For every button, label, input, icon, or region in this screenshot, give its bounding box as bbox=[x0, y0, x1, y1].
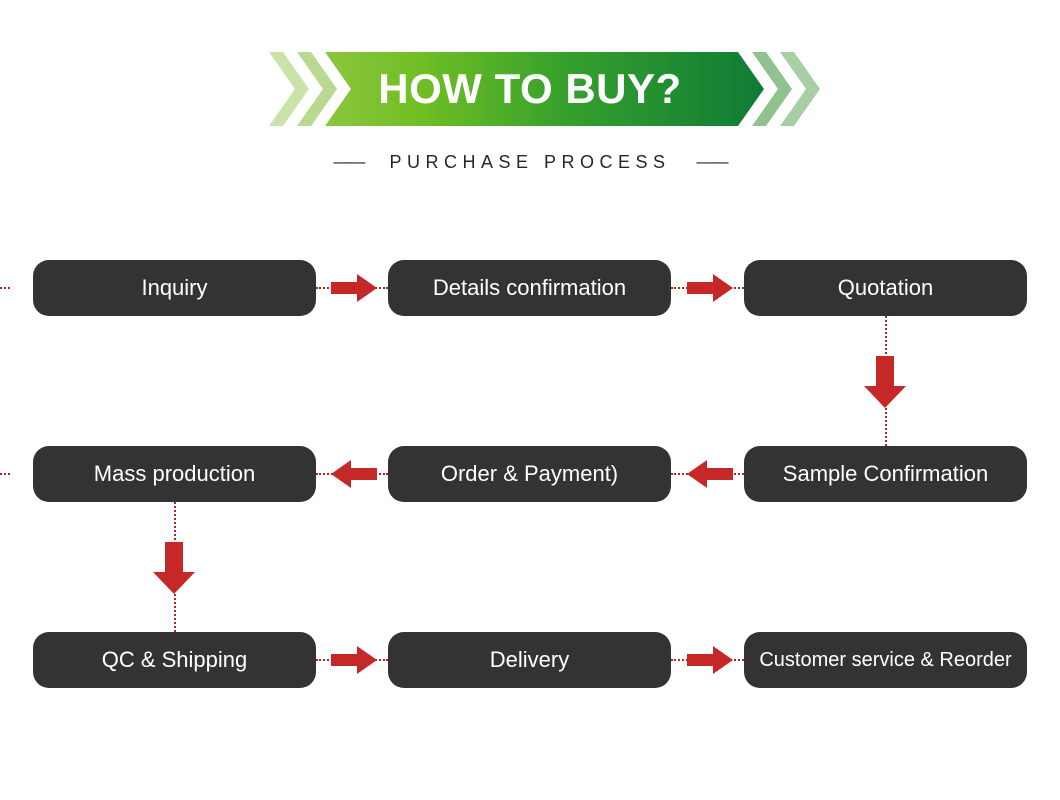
flow-node-sample-confirmation[interactable]: Sample Confirmation bbox=[744, 446, 1027, 502]
flow-node-customer-service-reorder[interactable]: Customer service & Reorder bbox=[744, 632, 1027, 688]
flow-node-quotation[interactable]: Quotation bbox=[744, 260, 1027, 316]
arrow-down-quotation-sample bbox=[862, 356, 908, 408]
connector-edge-row2 bbox=[0, 473, 10, 475]
flow-node-delivery[interactable]: Delivery bbox=[388, 632, 671, 688]
arrow-right-details-quotation bbox=[687, 273, 733, 303]
flow-node-qc-shipping[interactable]: QC & Shipping bbox=[33, 632, 316, 688]
flow-node-mass-production[interactable]: Mass production bbox=[33, 446, 316, 502]
flow-node-order-payment[interactable]: Order & Payment) bbox=[388, 446, 671, 502]
arrow-right-inquiry-details bbox=[331, 273, 377, 303]
connector-edge-row1 bbox=[0, 287, 10, 289]
flow-node-details-confirmation[interactable]: Details confirmation bbox=[388, 260, 671, 316]
flow-node-inquiry[interactable]: Inquiry bbox=[33, 260, 316, 316]
arrow-down-mass-qc bbox=[151, 542, 197, 594]
arrow-right-delivery-customer bbox=[687, 645, 733, 675]
arrow-left-order-mass bbox=[331, 459, 377, 489]
arrow-left-sample-order bbox=[687, 459, 733, 489]
purchase-process-flowchart: Inquiry Details confirmation Quotation M… bbox=[0, 0, 1060, 800]
arrow-right-qc-delivery bbox=[331, 645, 377, 675]
